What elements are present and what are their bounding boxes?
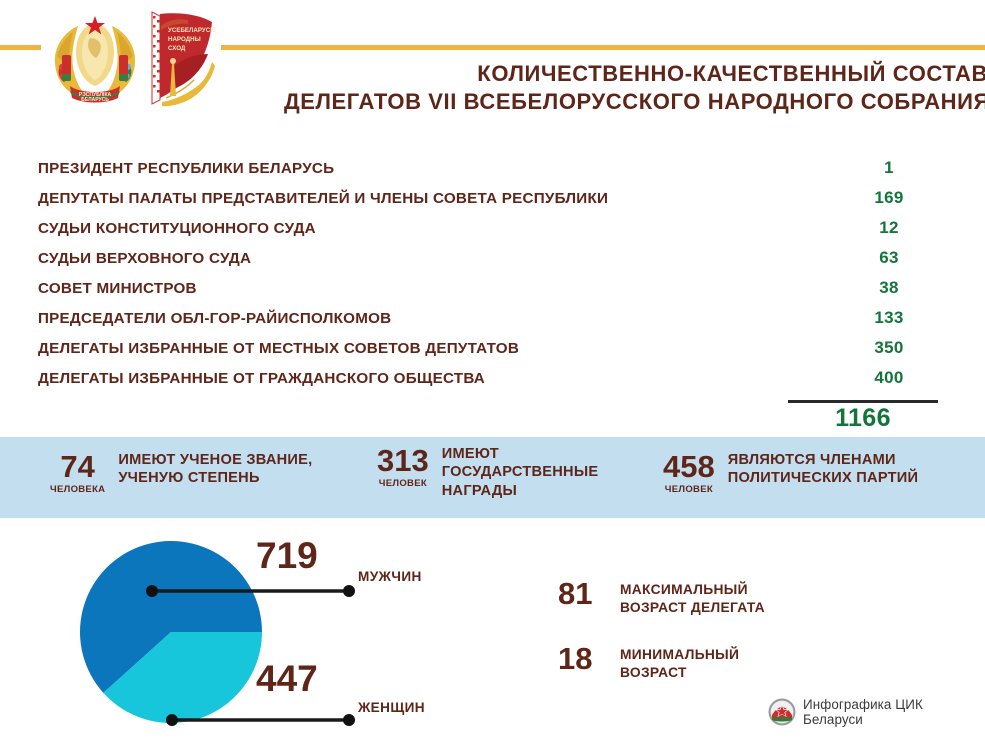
stat-unit: ЧЕЛОВЕК: [377, 478, 429, 489]
stat-description: ЯВЛЯЮТСЯ ЧЛЕНАМИ ПОЛИТИЧЕСКИХ ПАРТИЙ: [728, 450, 919, 488]
page-title: КОЛИЧЕСТВЕННО-КАЧЕСТВЕННЫЙ СОСТАВ ДЕЛЕГА…: [120, 60, 985, 116]
table-row-value: 1: [828, 158, 950, 178]
age-fact-label: МИНИМАЛЬНЫЙ ВОЗРАСТ: [620, 643, 739, 682]
pie-label-women: ЖЕНЩИН: [358, 700, 425, 715]
table-row-value: 133: [828, 308, 950, 328]
total-value: 1166: [788, 404, 938, 433]
cec-belarus-logo-icon: [768, 698, 796, 726]
table-row-label: СУДЬИ КОНСТИТУЦИОННОГО СУДА: [38, 220, 828, 237]
table-row: ПРЕДСЕДАТЕЛИ ОБЛ-ГОР-РАЙИСПОЛКОМОВ 133: [38, 308, 950, 338]
table-row: ДЕПУТАТЫ ПАЛАТЫ ПРЕДСТАВИТЕЛЕЙ И ЧЛЕНЫ С…: [38, 188, 950, 218]
total-divider: [788, 400, 938, 403]
stat-number-group: 313 ЧЕЛОВЕК: [377, 444, 429, 489]
composition-table: ПРЕЗИДЕНТ РЕСПУБЛИКИ БЕЛАРУСЬ 1 ДЕПУТАТЫ…: [38, 158, 950, 398]
credit-text: Инфографика ЦИК Беларуси: [803, 697, 985, 727]
stat-number: 313: [377, 446, 429, 475]
credit-block: Инфографика ЦИК Беларуси: [768, 697, 985, 727]
infographic-page: РЭСПУБЛІКА БЕЛАРУСЬ: [0, 0, 985, 739]
table-row-label: ПРЕЗИДЕНТ РЕСПУБЛИКИ БЕЛАРУСЬ: [38, 160, 828, 177]
age-fact-minimum: 18 МИНИМАЛЬНЫЙ ВОЗРАСТ: [558, 643, 739, 682]
age-fact-number: 81: [558, 578, 610, 609]
page-title-line-1: КОЛИЧЕСТВЕННО-КАЧЕСТВЕННЫЙ СОСТАВ: [120, 60, 985, 88]
table-row: СОВЕТ МИНИСТРОВ 38: [38, 278, 950, 308]
stat-item-academic: 74 ЧЕЛОВЕКА ИМЕЮТ УЧЕНОЕ ЗВАНИЕ, УЧЕНУЮ …: [50, 450, 312, 495]
table-row-value: 350: [828, 338, 950, 358]
stat-unit: ЧЕЛОВЕК: [663, 484, 715, 495]
pie-value-women: 447: [256, 658, 318, 700]
table-row-label: СОВЕТ МИНИСТРОВ: [38, 280, 828, 297]
table-row: СУДЬИ КОНСТИТУЦИОННОГО СУДА 12: [38, 218, 950, 248]
svg-text:НАРОДНЫ: НАРОДНЫ: [168, 36, 201, 43]
stat-number: 74: [50, 452, 105, 481]
table-row: СУДЬИ ВЕРХОВНОГО СУДА 63: [38, 248, 950, 278]
stat-unit: ЧЕЛОВЕКА: [50, 484, 105, 495]
header-rule-right: [221, 45, 985, 50]
stat-number: 458: [663, 452, 715, 481]
table-row-value: 63: [828, 248, 950, 268]
stat-description: ИМЕЮТ ГОСУДАРСТВЕННЫЕ НАГРАДЫ: [442, 444, 599, 500]
table-row-label: ДЕЛЕГАТЫ ИЗБРАННЫЕ ОТ МЕСТНЫХ СОВЕТОВ ДЕ…: [38, 340, 828, 357]
table-row: ДЕЛЕГАТЫ ИЗБРАННЫЕ ОТ ГРАЖДАНСКОГО ОБЩЕС…: [38, 368, 950, 398]
table-row-label: ДЕЛЕГАТЫ ИЗБРАННЫЕ ОТ ГРАЖДАНСКОГО ОБЩЕС…: [38, 370, 828, 387]
table-row: ДЕЛЕГАТЫ ИЗБРАННЫЕ ОТ МЕСТНЫХ СОВЕТОВ ДЕ…: [38, 338, 950, 368]
header-rule-left: [0, 45, 41, 50]
table-row: ПРЕЗИДЕНТ РЕСПУБЛИКИ БЕЛАРУСЬ 1: [38, 158, 950, 188]
pie-value-men: 719: [256, 535, 318, 577]
table-row-label: ДЕПУТАТЫ ПАЛАТЫ ПРЕДСТАВИТЕЛЕЙ И ЧЛЕНЫ С…: [38, 190, 828, 207]
stat-item-state-awards: 313 ЧЕЛОВЕК ИМЕЮТ ГОСУДАРСТВЕННЫЕ НАГРАД…: [377, 444, 598, 500]
stat-item-party-members: 458 ЧЕЛОВЕК ЯВЛЯЮТСЯ ЧЛЕНАМИ ПОЛИТИЧЕСКИ…: [663, 450, 918, 495]
stat-number-group: 74 ЧЕЛОВЕКА: [50, 450, 105, 495]
stat-description: ИМЕЮТ УЧЕНОЕ ЗВАНИЕ, УЧЕНУЮ СТЕПЕНЬ: [118, 450, 312, 488]
svg-text:СХОД: СХОД: [168, 45, 186, 52]
table-row-value: 400: [828, 368, 950, 388]
pie-label-men: МУЖЧИН: [358, 569, 422, 584]
table-row-value: 12: [828, 218, 950, 238]
table-row-value: 169: [828, 188, 950, 208]
age-fact-maximum: 81 МАКСИМАЛЬНЫЙ ВОЗРАСТ ДЕЛЕГАТА: [558, 578, 765, 617]
stat-number-group: 458 ЧЕЛОВЕК: [663, 450, 715, 495]
svg-text:БЕЛАРУСЬ: БЕЛАРУСЬ: [81, 97, 109, 103]
table-row-label: СУДЬИ ВЕРХОВНОГО СУДА: [38, 250, 828, 267]
table-row-value: 38: [828, 278, 950, 298]
svg-text:УСЕБЕЛАРУСКІ: УСЕБЕЛАРУСКІ: [168, 27, 216, 34]
age-fact-number: 18: [558, 643, 610, 674]
age-fact-label: МАКСИМАЛЬНЫЙ ВОЗРАСТ ДЕЛЕГАТА: [620, 578, 765, 617]
table-row-label: ПРЕДСЕДАТЕЛИ ОБЛ-ГОР-РАЙИСПОЛКОМОВ: [38, 310, 828, 327]
page-title-line-2: ДЕЛЕГАТОВ VII ВСЕБЕЛОРУССКОГО НАРОДНОГО …: [120, 88, 985, 116]
